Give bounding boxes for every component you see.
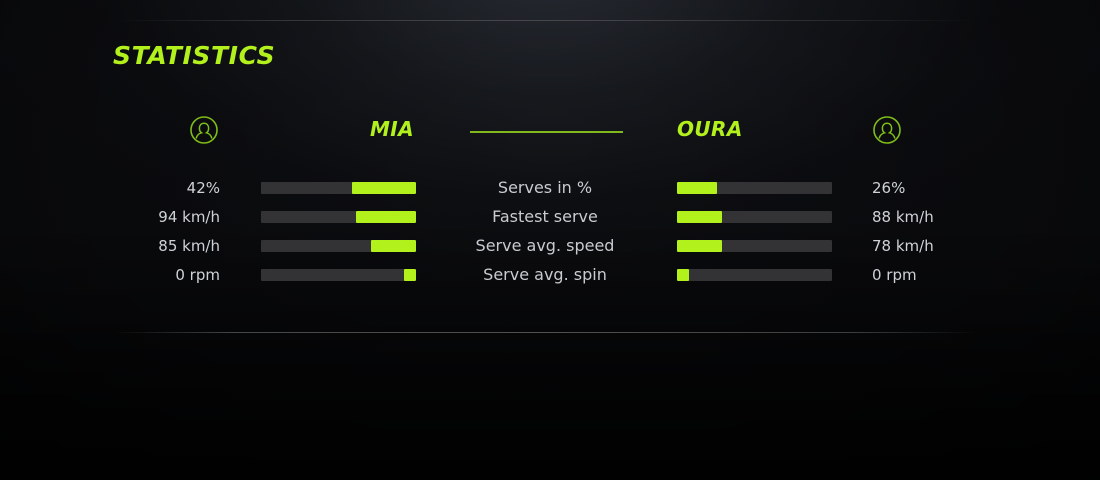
players-header-divider	[470, 131, 623, 133]
stat-bar-left	[261, 211, 416, 223]
stat-row: 42%Serves in %26%	[113, 176, 978, 205]
user-avatar-icon-left[interactable]	[189, 115, 219, 145]
stat-label: Serves in %	[420, 176, 670, 200]
stat-row: 0 rpmServe avg. spin0 rpm	[113, 263, 978, 292]
stat-value-left: 94 km/h	[113, 205, 220, 229]
statistics-panel: STATISTICS MIA OURA 42%Serves in %26%94 …	[113, 0, 978, 480]
stat-bar-fill-right	[677, 182, 717, 194]
players-header-row: MIA OURA	[113, 113, 978, 147]
stat-row: 94 km/hFastest serve88 km/h	[113, 205, 978, 234]
player-name-right: OURA	[677, 116, 817, 143]
stat-value-left: 85 km/h	[113, 234, 220, 258]
stat-value-right: 88 km/h	[872, 205, 992, 229]
stat-label: Serve avg. speed	[420, 234, 670, 258]
statistics-rows: 42%Serves in %26%94 km/hFastest serve88 …	[113, 176, 978, 292]
stat-bar-left	[261, 269, 416, 281]
stat-bar-left	[261, 240, 416, 252]
stat-bar-right	[677, 182, 832, 194]
stat-value-right: 78 km/h	[872, 234, 992, 258]
stat-bar-right	[677, 240, 832, 252]
stat-value-left: 0 rpm	[113, 263, 220, 287]
stat-bar-fill-left	[371, 240, 416, 252]
stat-value-right: 26%	[872, 176, 992, 200]
stat-bar-fill-right	[677, 211, 722, 223]
stat-bar-right	[677, 211, 832, 223]
stat-bar-fill-left	[356, 211, 416, 223]
stat-bar-fill-right	[677, 240, 722, 252]
stat-label: Fastest serve	[420, 205, 670, 229]
user-avatar-icon-right[interactable]	[872, 115, 902, 145]
stat-bar-fill-right	[677, 269, 689, 281]
stat-bar-fill-left	[352, 182, 416, 194]
page-title: STATISTICS	[113, 41, 275, 71]
panel-top-divider	[113, 20, 978, 21]
stat-value-left: 42%	[113, 176, 220, 200]
stat-row: 85 km/hServe avg. speed78 km/h	[113, 234, 978, 263]
stat-bar-fill-left	[404, 269, 416, 281]
stat-value-right: 0 rpm	[872, 263, 992, 287]
stat-label: Serve avg. spin	[420, 263, 670, 287]
panel-bottom-divider	[113, 332, 978, 333]
stat-bar-left	[261, 182, 416, 194]
player-name-left: MIA	[294, 116, 414, 143]
stat-bar-right	[677, 269, 832, 281]
